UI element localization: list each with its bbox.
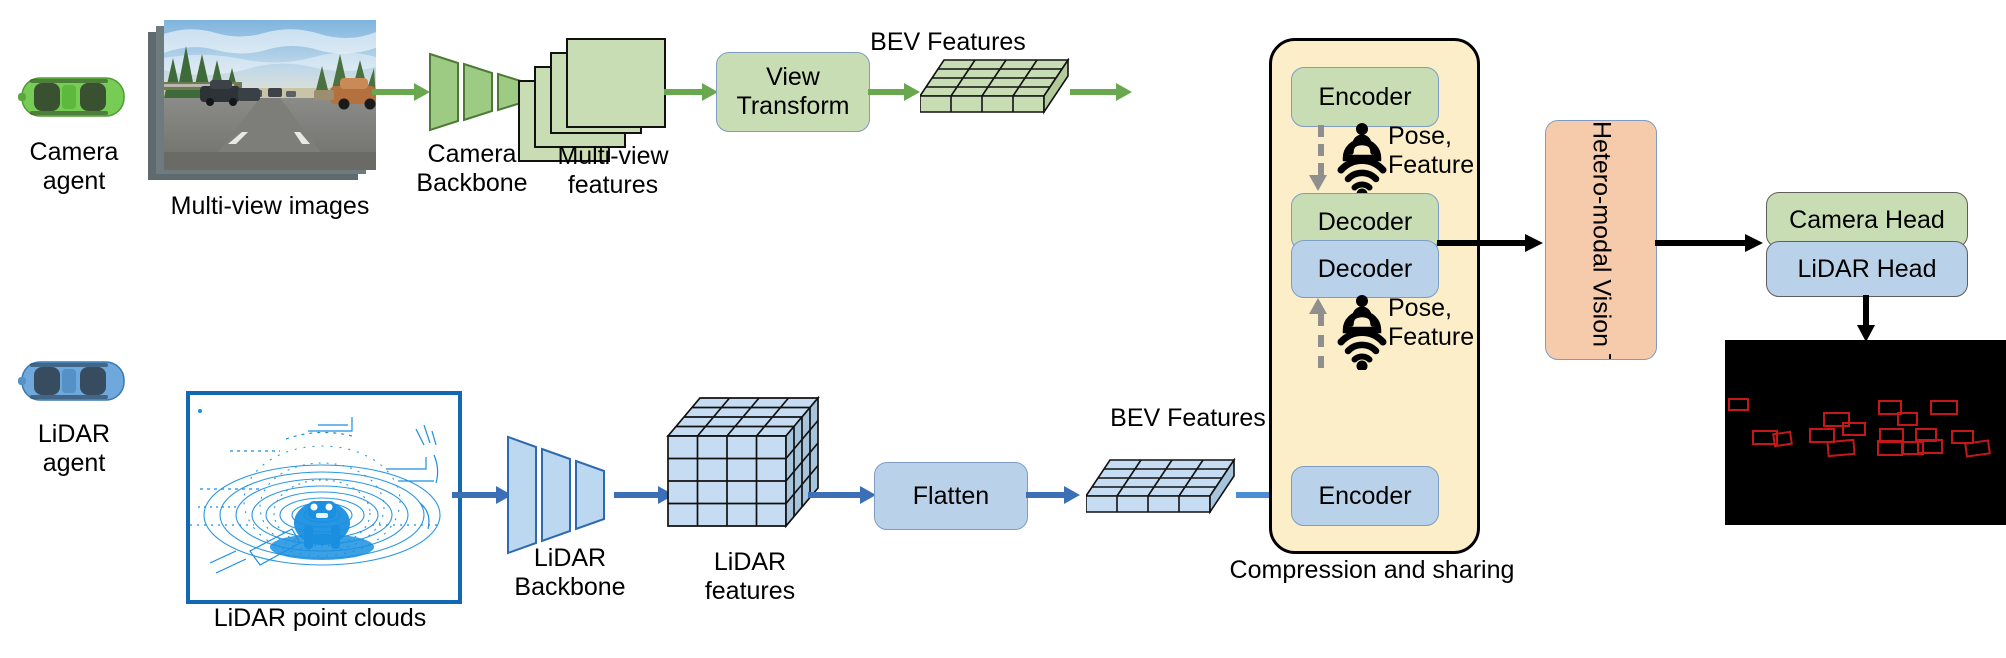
lidar-backbone-stage-3 [576,461,604,529]
lidar-features-caption: LiDAR features [640,548,860,606]
lidar-encoder-label: Encoder [1318,482,1411,510]
view-transform-label: View Transform [737,63,850,121]
camera-wifi-icon [1337,158,1387,198]
lidar-bev-features-caption: BEV Features [1078,404,1298,433]
camera-head-box[interactable]: Camera Head [1766,192,1968,248]
lidar-feature-voxel-cube [666,396,826,554]
lidar-agent-icon [18,356,128,406]
detection-box [1897,412,1918,426]
camera-decoder-label: Decoder [1318,208,1413,236]
image-layer-front [164,20,376,170]
detection-box [1877,440,1903,456]
lidar-bev-feature-grid [1086,458,1236,522]
lidar-point-clouds-caption: LiDAR point clouds [150,604,490,633]
lidar-encoder-box[interactable]: Encoder [1291,466,1439,526]
lidar-agent-label: LiDAR agent [8,420,140,478]
view-transform-box[interactable]: View Transform [716,52,870,132]
lidar-share-label: Pose, Feature [1388,294,1508,352]
lidar-point-cloud-image [186,391,462,604]
multi-view-images-stack [148,10,388,185]
lidar-backbone-stage-1 [508,437,536,553]
lidar-wifi-icon [1337,330,1387,370]
backbone-stage-1 [430,54,458,130]
lidar-decoder-label: Decoder [1318,255,1413,283]
compression-sharing-caption: Compression and sharing [1196,556,1548,585]
detection-box [1728,398,1749,411]
multi-view-images-caption: Multi-view images [140,192,400,221]
multi-view-features-caption: Multi-view features [518,142,708,200]
camera-bev-feature-grid [920,58,1070,122]
detection-box [1772,431,1793,448]
hm-vit-label: Hetero-modal Vision Transformer (HM-ViT) [1587,121,1616,359]
lidar-backbone-stage-2 [542,449,570,541]
camera-agent-label: Camera agent [8,138,140,196]
backbone-stage-2 [464,64,492,120]
camera-agent-icon [18,72,128,122]
camera-broadcast-up-icon [1337,122,1387,162]
feature-map-1 [566,38,666,128]
camera-share-label: Pose, Feature [1388,122,1508,180]
detection-box [1826,439,1855,457]
lidar-head-label: LiDAR Head [1798,255,1937,283]
lidar-decoder-box[interactable]: Decoder [1291,240,1439,298]
camera-encoder-label: Encoder [1318,83,1411,111]
camera-head-label: Camera Head [1789,206,1945,234]
detection-box [1917,439,1943,454]
detection-box [1964,439,1991,457]
lidar-broadcast-up-icon [1337,294,1387,334]
detection-boxes-overlay [1725,340,2006,525]
hm-vit-box[interactable]: Hetero-modal Vision Transformer (HM-ViT) [1545,120,1657,360]
flatten-box[interactable]: Flatten [874,462,1028,530]
detection-box [1930,400,1958,415]
detection-box [1842,422,1866,436]
lidar-head-box[interactable]: LiDAR Head [1766,241,1968,297]
flatten-label: Flatten [913,482,989,511]
camera-encoder-box[interactable]: Encoder [1291,67,1439,127]
camera-bev-features-caption: BEV Features [838,28,1058,57]
